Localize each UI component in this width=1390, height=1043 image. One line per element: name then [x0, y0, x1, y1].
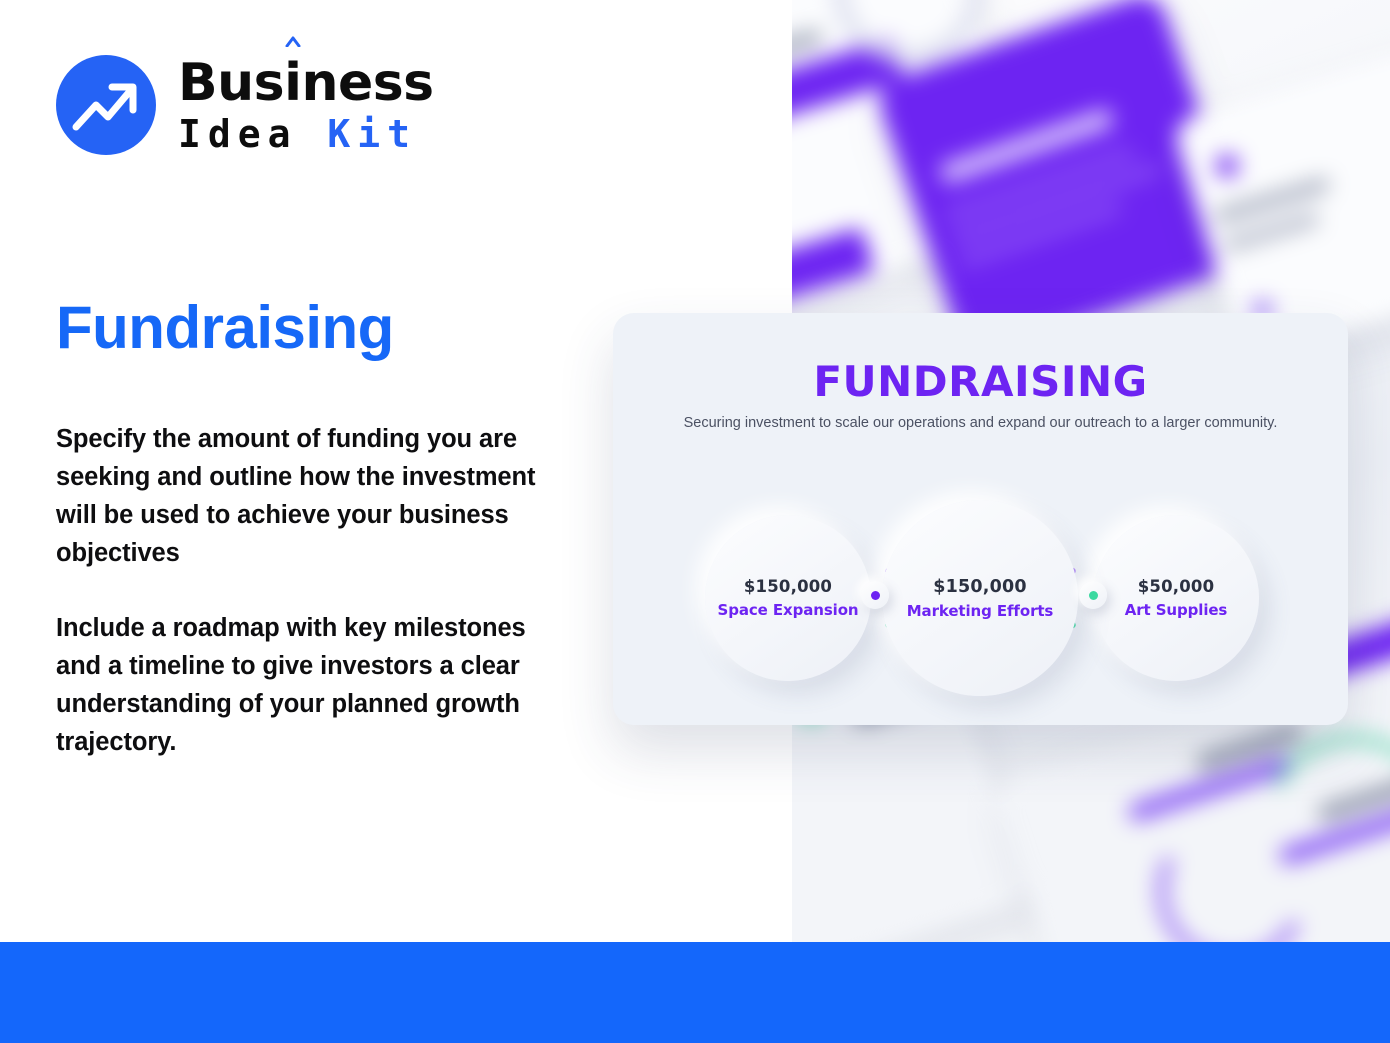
funding-amount: $150,000 [933, 577, 1026, 597]
connector-knob-left [861, 581, 889, 609]
body-paragraph-1: Specify the amount of funding you are se… [56, 420, 561, 572]
brand-name-dotless-i: i [284, 53, 301, 113]
funding-category: Art Supplies [1125, 601, 1228, 619]
funding-category: Space Expansion [718, 601, 859, 619]
brand-name-part-a: Bus [178, 53, 284, 113]
slide-subtitle: Securing investment to scale our operati… [613, 413, 1348, 433]
connector-knob-right [1079, 581, 1107, 609]
body-paragraph-2: Include a roadmap with key milestones an… [56, 609, 561, 761]
chevron-up-icon [285, 36, 300, 47]
brand-wordmark: Business Idea Kit [178, 57, 434, 153]
funding-amount: $50,000 [1138, 577, 1215, 596]
brand-logo[interactable]: Business Idea Kit [56, 55, 434, 155]
footer-bar [0, 942, 1390, 1043]
growth-arrow-icon [56, 55, 156, 155]
funding-item-left[interactable]: $150,000 Space Expansion [705, 515, 871, 681]
page-title: Fundraising [56, 296, 394, 359]
funding-amount: $150,000 [744, 577, 832, 596]
funding-item-right[interactable]: $50,000 Art Supplies [1093, 515, 1259, 681]
slide-heading: FUNDRAISING [613, 357, 1348, 406]
purple-dot-icon [871, 591, 880, 600]
brand-subname-idea: Idea [178, 112, 327, 156]
green-dot-icon [1089, 591, 1098, 600]
funding-item-center[interactable]: $150,000 Marketing Efforts [882, 500, 1078, 696]
bg-accent-bar [792, 227, 875, 315]
brand-name-line2: Idea Kit [178, 115, 434, 153]
brand-subname-kit: Kit [327, 112, 417, 156]
funding-allocation-diagram: $150,000 Space Expansion $150,000 Market… [613, 483, 1348, 713]
brand-name-part-b: ness [301, 53, 433, 113]
slide-page: Business Idea Kit Fundraising Specify th… [0, 0, 1390, 1043]
funding-category: Marketing Efforts [907, 602, 1054, 620]
bg-dot [1213, 152, 1240, 179]
slide-preview-card[interactable]: FUNDRAISING Securing investment to scale… [613, 313, 1348, 725]
brand-name-line1: Business [178, 57, 434, 109]
